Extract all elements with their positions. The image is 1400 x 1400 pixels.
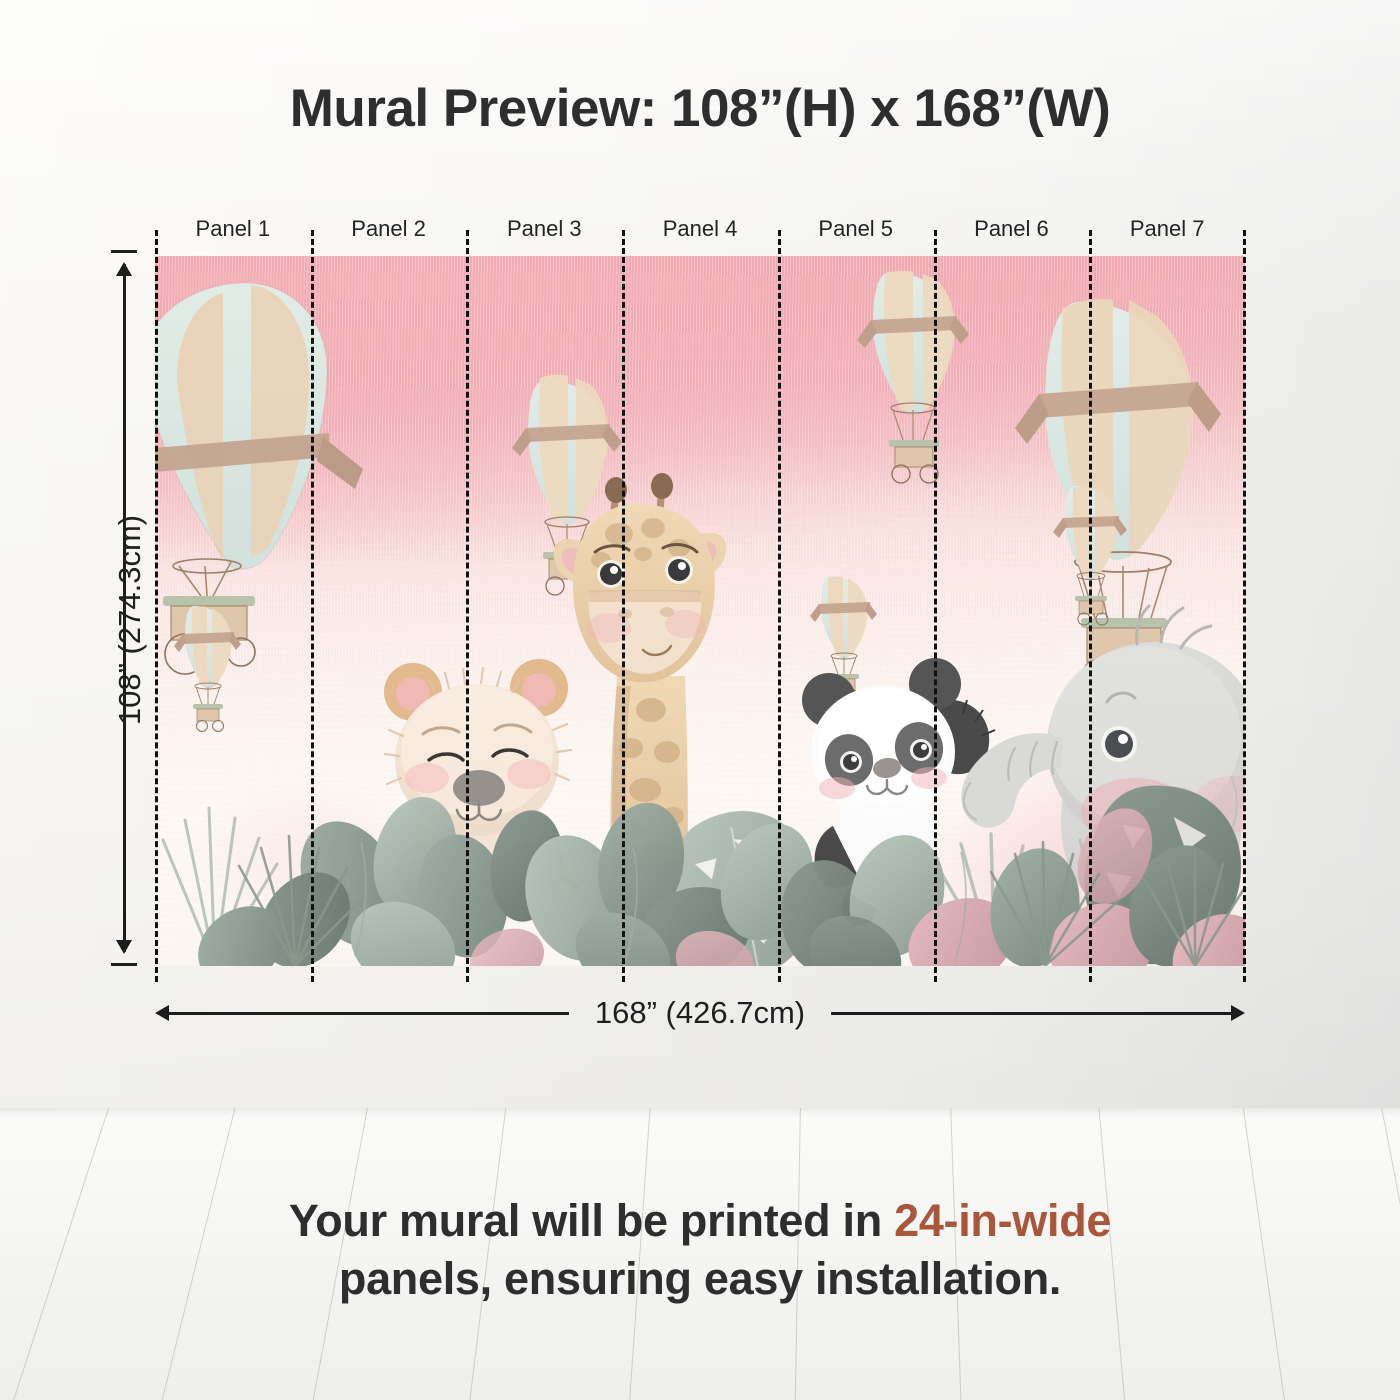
panel-label-6: Panel 6 bbox=[934, 212, 1090, 246]
mural-artwork bbox=[155, 256, 1245, 966]
height-dimension: 108” (274.3cm) bbox=[96, 250, 166, 966]
caption-line-2: panels, ensuring easy installation. bbox=[0, 1250, 1400, 1308]
panel-label-1: Panel 1 bbox=[155, 212, 311, 246]
balloon-1 bbox=[155, 283, 363, 674]
panel-label-row: Panel 1 Panel 2 Panel 3 Panel 4 Panel 5 … bbox=[155, 212, 1245, 246]
panel-label-4: Panel 4 bbox=[622, 212, 778, 246]
caption-line-1: Your mural will be printed in 24-in-wide bbox=[0, 1192, 1400, 1250]
caption-highlight: 24-in-wide bbox=[894, 1195, 1111, 1246]
balloon-4 bbox=[1015, 299, 1221, 688]
height-dimension-label: 108” (274.3cm) bbox=[112, 360, 148, 880]
mural-preview bbox=[155, 256, 1245, 966]
width-dimension-label: 168” (426.7cm) bbox=[155, 996, 1245, 1030]
panel-label-2: Panel 2 bbox=[311, 212, 467, 246]
balloon-3 bbox=[857, 271, 969, 483]
panel-label-3: Panel 3 bbox=[466, 212, 622, 246]
panel-label-5: Panel 5 bbox=[778, 212, 934, 246]
caption: Your mural will be printed in 24-in-wide… bbox=[0, 1192, 1400, 1307]
caption-line-1-text: Your mural will be printed in bbox=[289, 1195, 894, 1246]
panel-label-7: Panel 7 bbox=[1089, 212, 1245, 246]
page-title: Mural Preview: 108”(H) x 168”(W) bbox=[0, 78, 1400, 139]
mural-illustration bbox=[155, 256, 1245, 966]
width-dimension: 168” (426.7cm) bbox=[155, 996, 1245, 1030]
